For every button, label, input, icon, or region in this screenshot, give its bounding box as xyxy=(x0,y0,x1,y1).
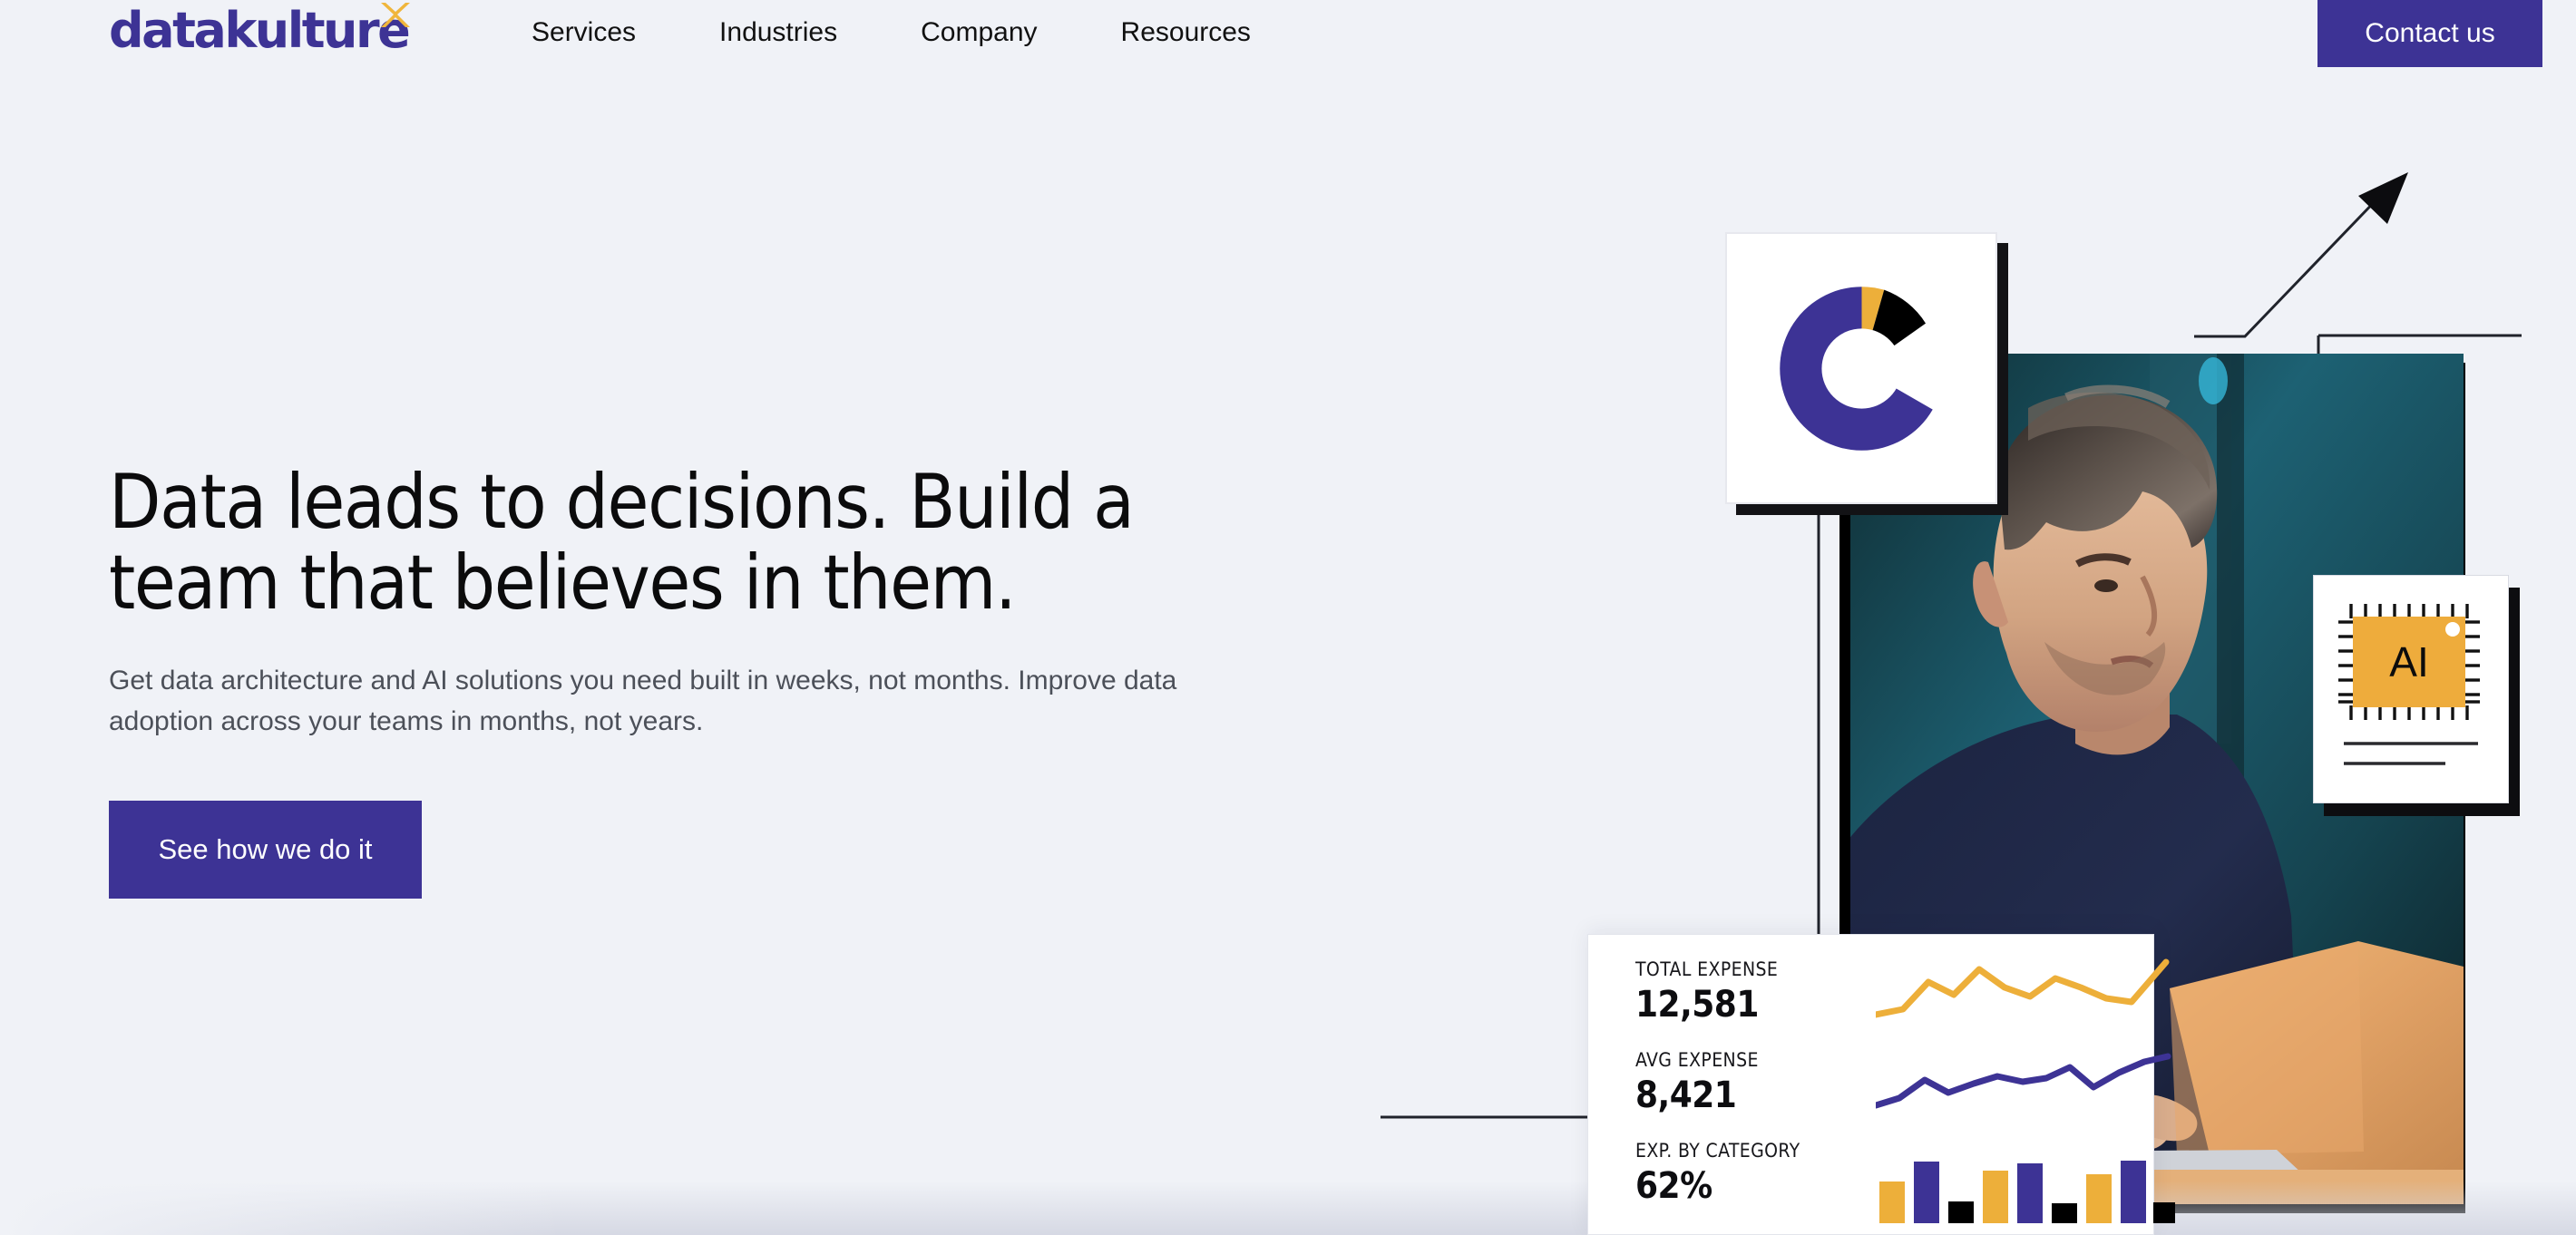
top-navigation-bar: datakulture Services Industries Company … xyxy=(0,0,2576,65)
avg-expense-sparkline xyxy=(1876,1049,2175,1133)
expense-dashboard-card: TOTAL EXPENSE 12,581 AVG EXPENSE 8,421 E… xyxy=(1587,934,2154,1235)
nav-item-industries[interactable]: Industries xyxy=(678,0,879,65)
ai-chip-card: AI xyxy=(2313,575,2509,803)
donut-chart-card xyxy=(1725,232,1997,504)
x-butterfly-icon xyxy=(379,0,412,31)
exp-by-category-bars xyxy=(1876,1147,2175,1230)
hero-section: Data leads to decisions. Build a team th… xyxy=(109,462,1306,899)
stat-row-exp-by-category: EXP. BY CATEGORY 62% xyxy=(1635,1140,2153,1230)
see-how-we-do-it-button[interactable]: See how we do it xyxy=(109,801,422,899)
total-expense-sparkline xyxy=(1876,958,2175,1042)
stat-row-avg-expense: AVG EXPENSE 8,421 xyxy=(1635,1049,2153,1140)
nav-item-services[interactable]: Services xyxy=(490,0,678,65)
brand-logo-text: datakulture xyxy=(109,2,408,59)
ai-chip-icon: AI xyxy=(2329,591,2493,787)
stat-row-total-expense: TOTAL EXPENSE 12,581 xyxy=(1635,958,2153,1049)
hero-subtitle: Get data architecture and AI solutions y… xyxy=(109,660,1247,743)
nav-item-company[interactable]: Company xyxy=(879,0,1078,65)
donut-chart xyxy=(1764,271,1959,466)
brand-logo[interactable]: datakulture xyxy=(109,4,426,60)
svg-text:AI: AI xyxy=(2389,638,2428,686)
contact-us-button[interactable]: Contact us xyxy=(2317,0,2542,67)
page-title: Data leads to decisions. Build a team th… xyxy=(109,462,1279,624)
nav-item-resources[interactable]: Resources xyxy=(1079,0,1293,65)
primary-nav: Services Industries Company Resources xyxy=(490,0,1293,65)
